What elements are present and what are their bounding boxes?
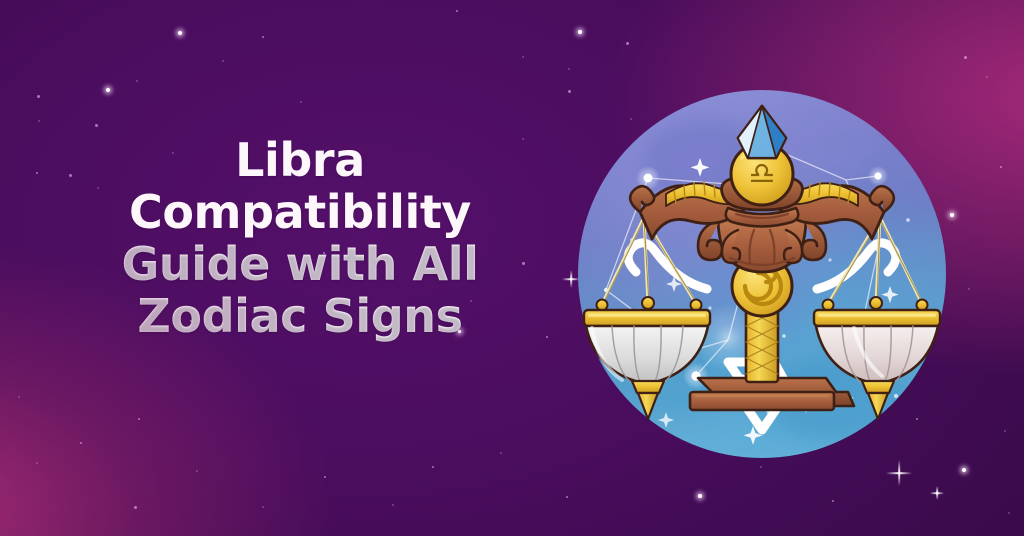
- star: [134, 506, 137, 509]
- star: [432, 466, 434, 468]
- star: [968, 288, 970, 290]
- star: [36, 462, 38, 464]
- star: [566, 496, 568, 498]
- scales-assembly: ♎: [584, 106, 940, 430]
- star: [138, 418, 140, 420]
- star: [962, 468, 966, 472]
- pan-right-foot: [862, 381, 894, 393]
- sparkle-star: [886, 460, 912, 486]
- star: [222, 60, 224, 62]
- pan-left-rim: [584, 310, 710, 326]
- star: [1008, 512, 1010, 514]
- star: [950, 213, 954, 217]
- star: [568, 68, 570, 70]
- headline-line-4: Zodiac Signs: [40, 290, 560, 342]
- star: [578, 30, 582, 34]
- pan-right-bowl: [816, 326, 938, 384]
- star: [178, 31, 182, 35]
- star: [300, 101, 302, 103]
- pan-left-knob: [642, 297, 654, 309]
- scales-vector: ♎: [578, 90, 946, 458]
- star: [324, 476, 326, 478]
- headline-line-3: Guide with All: [40, 238, 560, 290]
- star: [38, 120, 40, 122]
- star: [698, 494, 702, 498]
- pan-left-foot: [632, 381, 664, 393]
- star: [136, 80, 138, 82]
- headline-line-2: Compatibility: [40, 186, 560, 238]
- star: [106, 88, 110, 92]
- star: [986, 76, 988, 78]
- pan-right-rim: [814, 310, 940, 326]
- sparkle-star: [930, 486, 944, 500]
- pan-left-tip: [638, 393, 658, 419]
- gem-crystal: [738, 106, 786, 158]
- star: [392, 504, 394, 506]
- headline-block: Libra Compatibility Guide with All Zodia…: [40, 134, 560, 342]
- star: [1004, 430, 1006, 432]
- star: [37, 95, 40, 98]
- star: [95, 124, 98, 127]
- star: [262, 506, 264, 508]
- star: [80, 442, 82, 444]
- zodiac-hero-banner: Libra Compatibility Guide with All Zodia…: [0, 0, 1024, 536]
- pan-right-tip: [868, 393, 888, 419]
- base-slab: [690, 392, 834, 410]
- star: [18, 396, 20, 398]
- star: [262, 36, 264, 38]
- star: [832, 500, 834, 502]
- star: [964, 56, 967, 59]
- star: [36, 172, 38, 174]
- star: [568, 90, 571, 93]
- star: [500, 452, 502, 454]
- star: [456, 10, 458, 12]
- pan-right-knob: [870, 297, 882, 309]
- headline-line-1: Libra: [40, 134, 560, 186]
- star: [522, 56, 524, 58]
- libra-scales-illustration: ♎: [578, 90, 946, 458]
- star: [196, 470, 198, 472]
- star: [626, 42, 629, 45]
- libra-symbol: ♎: [749, 157, 776, 192]
- star: [1000, 166, 1002, 168]
- star: [760, 466, 762, 468]
